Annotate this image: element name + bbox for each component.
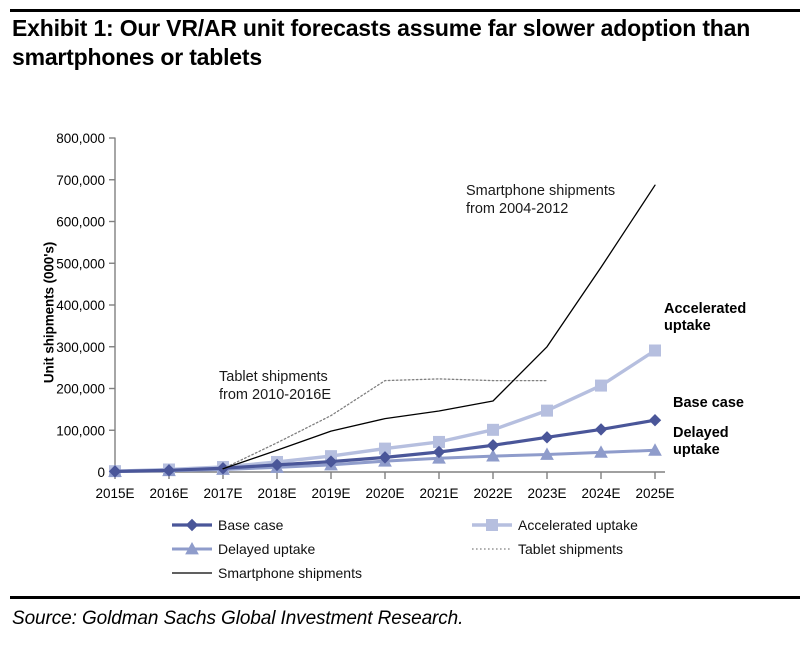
series-base-case-marker xyxy=(434,446,445,457)
y-axis-tick-label: 500,000 xyxy=(56,256,105,271)
y-axis-tick-label: 600,000 xyxy=(56,215,105,230)
x-axis-tick-label: 2015E xyxy=(95,486,134,501)
series-label-base-case: Base case xyxy=(673,395,744,412)
legend-label: Tablet shipments xyxy=(518,541,623,557)
y-axis-tick-label: 800,000 xyxy=(56,131,105,146)
exhibit-title: Exhibit 1: Our VR/AR unit forecasts assu… xyxy=(12,14,772,73)
legend-item-accelerated-uptake[interactable]: Accelerated uptake xyxy=(472,517,638,533)
legend-key-solid-thin-line xyxy=(172,566,212,580)
series-label-delayed-uptake: Delayed uptake xyxy=(673,425,729,460)
annotation-tablet: Tablet shipments from 2010-2016E xyxy=(219,369,331,405)
y-axis-tick-label: 700,000 xyxy=(56,173,105,188)
series-base-case-marker xyxy=(650,415,661,426)
legend-label: Accelerated uptake xyxy=(518,517,638,533)
series-base-case-marker xyxy=(596,424,607,435)
series-accelerated-uptake-marker xyxy=(488,424,499,435)
x-axis-tick-label: 2023E xyxy=(527,486,566,501)
x-axis-tick-label: 2021E xyxy=(419,486,458,501)
legend-marker xyxy=(187,520,198,531)
legend-marker xyxy=(487,520,498,531)
series-base-case-marker xyxy=(542,432,553,443)
legend-item-delayed-uptake[interactable]: Delayed uptake xyxy=(172,541,315,557)
y-axis-tick-label: 300,000 xyxy=(56,340,105,355)
legend-label: Smartphone shipments xyxy=(218,565,362,581)
legend-item-smartphone-shipments[interactable]: Smartphone shipments xyxy=(172,565,362,581)
source-rule xyxy=(10,596,800,599)
series-smartphone-shipments xyxy=(223,185,655,469)
legend-label: Delayed uptake xyxy=(218,541,315,557)
x-axis-tick-label: 2017E xyxy=(203,486,242,501)
legend-item-base-case[interactable]: Base case xyxy=(172,517,283,533)
source-text: Source: Goldman Sachs Global Investment … xyxy=(12,608,463,630)
series-accelerated-uptake-marker xyxy=(650,345,661,356)
legend-key-line-square-marker xyxy=(472,518,512,532)
y-axis-tick-label: 400,000 xyxy=(56,298,105,313)
series-smartphone-shipments-line xyxy=(223,185,655,469)
x-axis-tick-label: 2020E xyxy=(365,486,404,501)
series-accelerated-uptake-marker xyxy=(596,380,607,391)
y-axis-tick-label: 100,000 xyxy=(56,423,105,438)
x-axis-tick-label: 2024E xyxy=(581,486,620,501)
x-axis-tick-label: 2025E xyxy=(635,486,674,501)
series-label-accelerated-uptake: Accelerated uptake xyxy=(664,301,746,336)
x-axis-tick-label: 2019E xyxy=(311,486,350,501)
exhibit-top-rule xyxy=(10,9,800,12)
annotation-smartphone: Smartphone shipments from 2004-2012 xyxy=(466,183,615,219)
legend-key-dotted-line xyxy=(472,542,512,556)
x-axis-tick-label: 2016E xyxy=(149,486,188,501)
series-accelerated-uptake-marker xyxy=(542,405,553,416)
chart-container: Unit shipments (000's) 0100,000200,00030… xyxy=(0,105,810,585)
x-axis-tick-label: 2022E xyxy=(473,486,512,501)
legend-key-line-diamond-marker xyxy=(172,518,212,532)
legend-key-line-triangle-marker xyxy=(172,542,212,556)
line-chart-plot: 0100,000200,000300,000400,000500,000600,… xyxy=(0,105,810,585)
series-base-case-marker xyxy=(488,440,499,451)
y-axis-tick-label: 0 xyxy=(97,465,105,480)
x-axis-tick-label: 2018E xyxy=(257,486,296,501)
legend-item-tablet-shipments[interactable]: Tablet shipments xyxy=(472,541,623,557)
legend-label: Base case xyxy=(218,517,283,533)
y-axis-tick-label: 200,000 xyxy=(56,382,105,397)
